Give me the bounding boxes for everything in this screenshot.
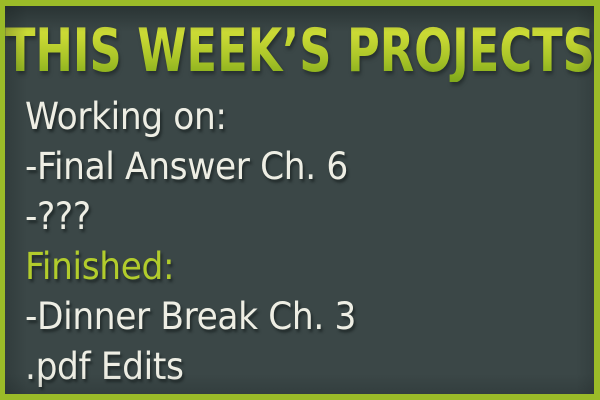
title-container: THIS WEEK’S PROJECTS: [5, 18, 594, 84]
list-item: Finished:: [25, 242, 545, 292]
list-item: .pdf Edits: [25, 342, 545, 392]
project-list: Working on: -Final Answer Ch. 6 -??? Fin…: [25, 92, 584, 392]
list-item: -Dinner Break Ch. 3: [25, 292, 545, 342]
list-item: Working on:: [25, 92, 545, 142]
list-item: -???: [25, 192, 545, 242]
projects-status-card: THIS WEEK’S PROJECTS Working on: -Final …: [0, 0, 600, 400]
page-title: THIS WEEK’S PROJECTS: [5, 20, 594, 82]
card-panel: THIS WEEK’S PROJECTS Working on: -Final …: [5, 6, 594, 394]
list-item: -Final Answer Ch. 6: [25, 142, 545, 192]
